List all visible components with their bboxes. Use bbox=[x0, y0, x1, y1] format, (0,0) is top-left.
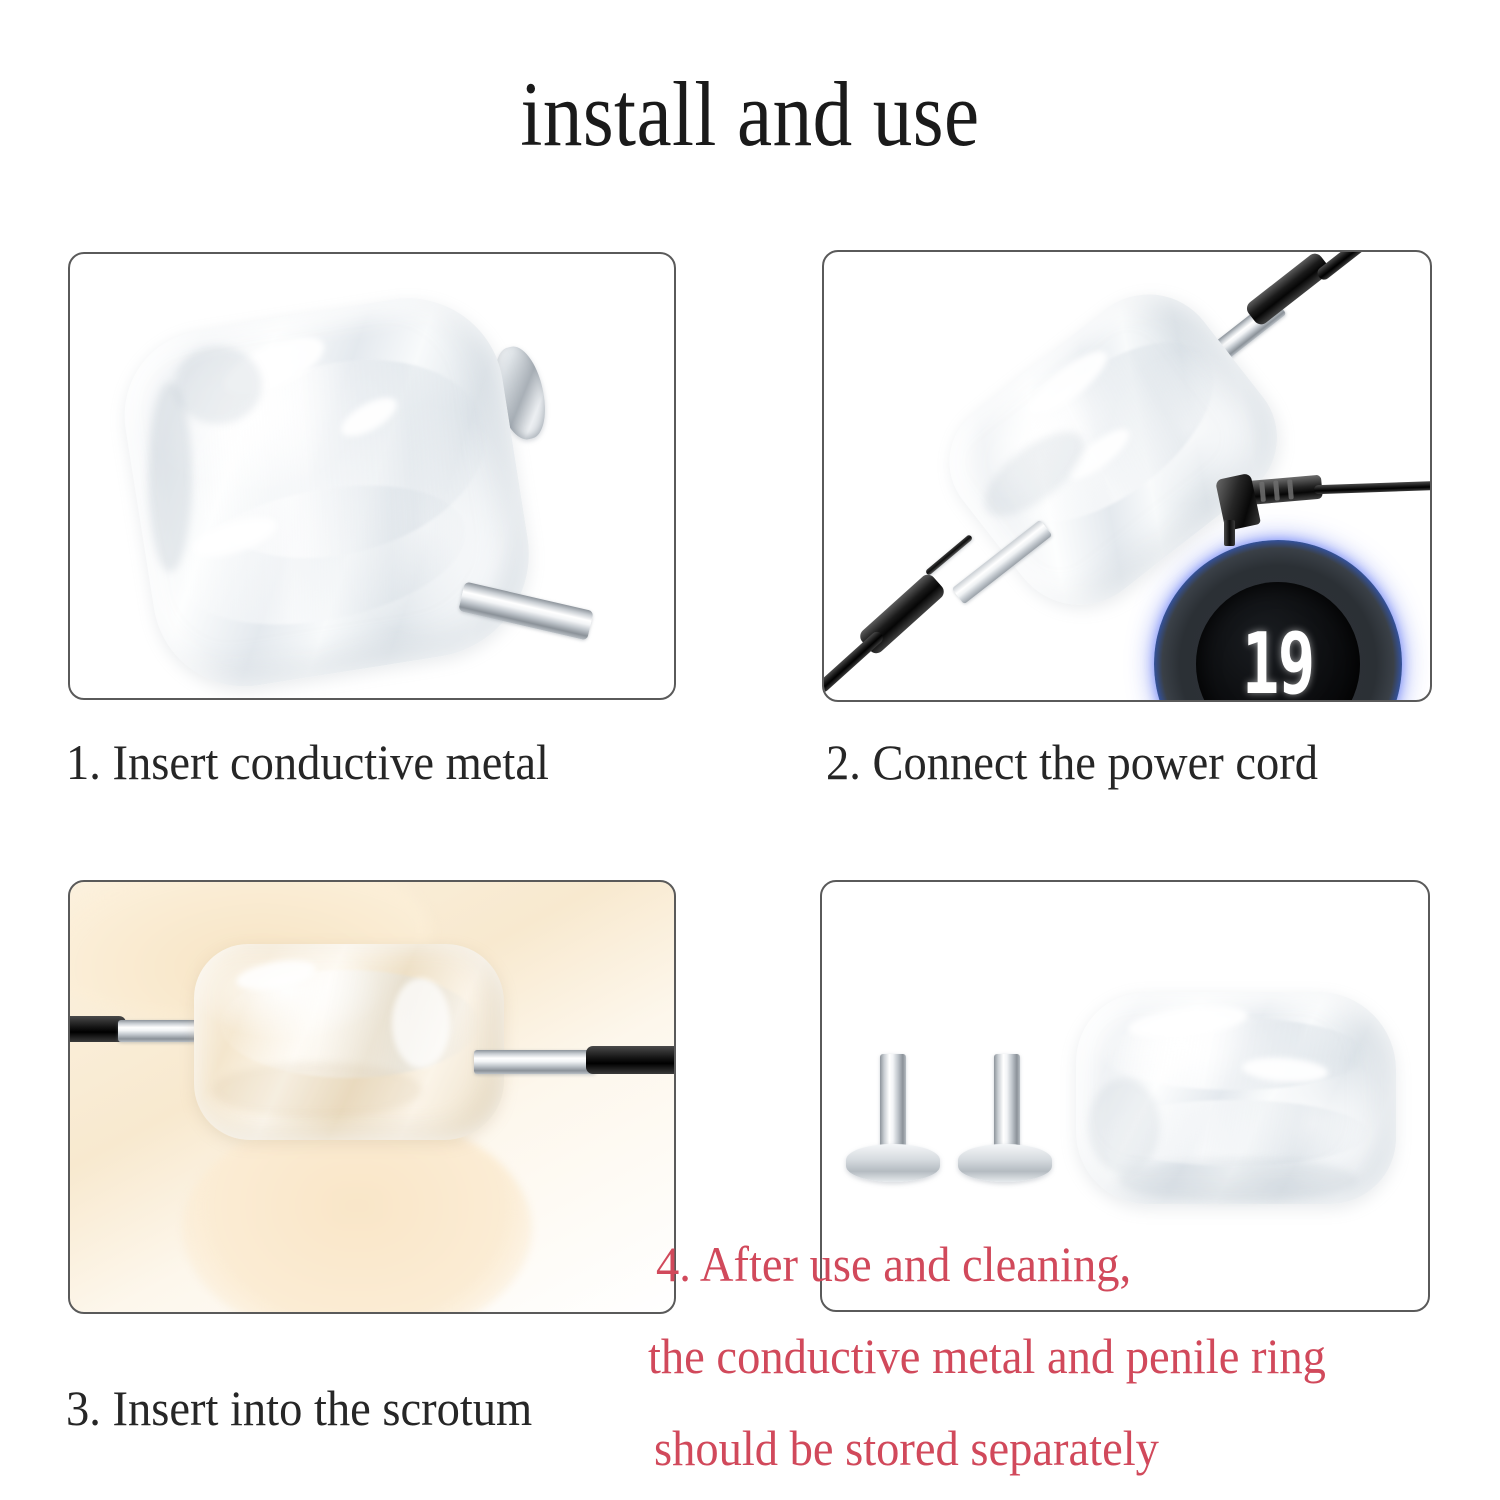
jack-rib-1 bbox=[1259, 482, 1266, 502]
ring-specular-skin-2 bbox=[392, 978, 450, 1068]
loose-ring-shade-bottom bbox=[1118, 1158, 1358, 1202]
step-1-artwork bbox=[70, 254, 674, 698]
step-4-note-line-1: 4. After use and cleaning, bbox=[656, 1238, 1131, 1291]
ring-inner-hole bbox=[174, 346, 262, 424]
step-1-caption: 1. Insert conductive metal bbox=[66, 736, 549, 789]
page-title: install and use bbox=[105, 68, 1395, 160]
lower-cable bbox=[822, 629, 885, 694]
jack-rib-2 bbox=[1273, 480, 1280, 500]
ring-shade-skin bbox=[212, 1062, 422, 1118]
device-display-value: 19 bbox=[1242, 621, 1314, 702]
step-1-panel bbox=[68, 252, 676, 700]
step-4-note-line-2: the conductive metal and penile ring bbox=[648, 1330, 1326, 1383]
step-2-caption: 2. Connect the power cord bbox=[826, 736, 1318, 789]
top-cable-boot bbox=[1244, 250, 1333, 327]
skin-lower-form bbox=[182, 1114, 532, 1314]
jack-rib-3 bbox=[1287, 479, 1294, 499]
step-4-note-line-3: should be stored separately bbox=[654, 1422, 1159, 1475]
loose-pin-b-base bbox=[958, 1144, 1052, 1182]
step-3-caption: 3. Insert into the scrotum bbox=[66, 1382, 532, 1435]
jack-plug-tip bbox=[1224, 520, 1235, 546]
top-cable bbox=[1315, 250, 1391, 282]
step-3-panel bbox=[68, 880, 676, 1314]
right-cable bbox=[586, 1046, 676, 1074]
device-power-cable bbox=[1314, 481, 1432, 495]
right-pin-shaft bbox=[474, 1050, 596, 1074]
infographic-page: install and use bbox=[0, 0, 1500, 1500]
step-2-panel: 19 mA bbox=[822, 250, 1432, 702]
loose-ring-shade bbox=[1088, 1078, 1160, 1174]
loose-pin-a-base bbox=[846, 1144, 940, 1182]
lower-probe-needle bbox=[925, 534, 973, 576]
step-3-artwork bbox=[70, 882, 674, 1312]
step-2-artwork: 19 mA bbox=[824, 252, 1430, 700]
controller-device[interactable]: 19 mA bbox=[1154, 540, 1402, 702]
